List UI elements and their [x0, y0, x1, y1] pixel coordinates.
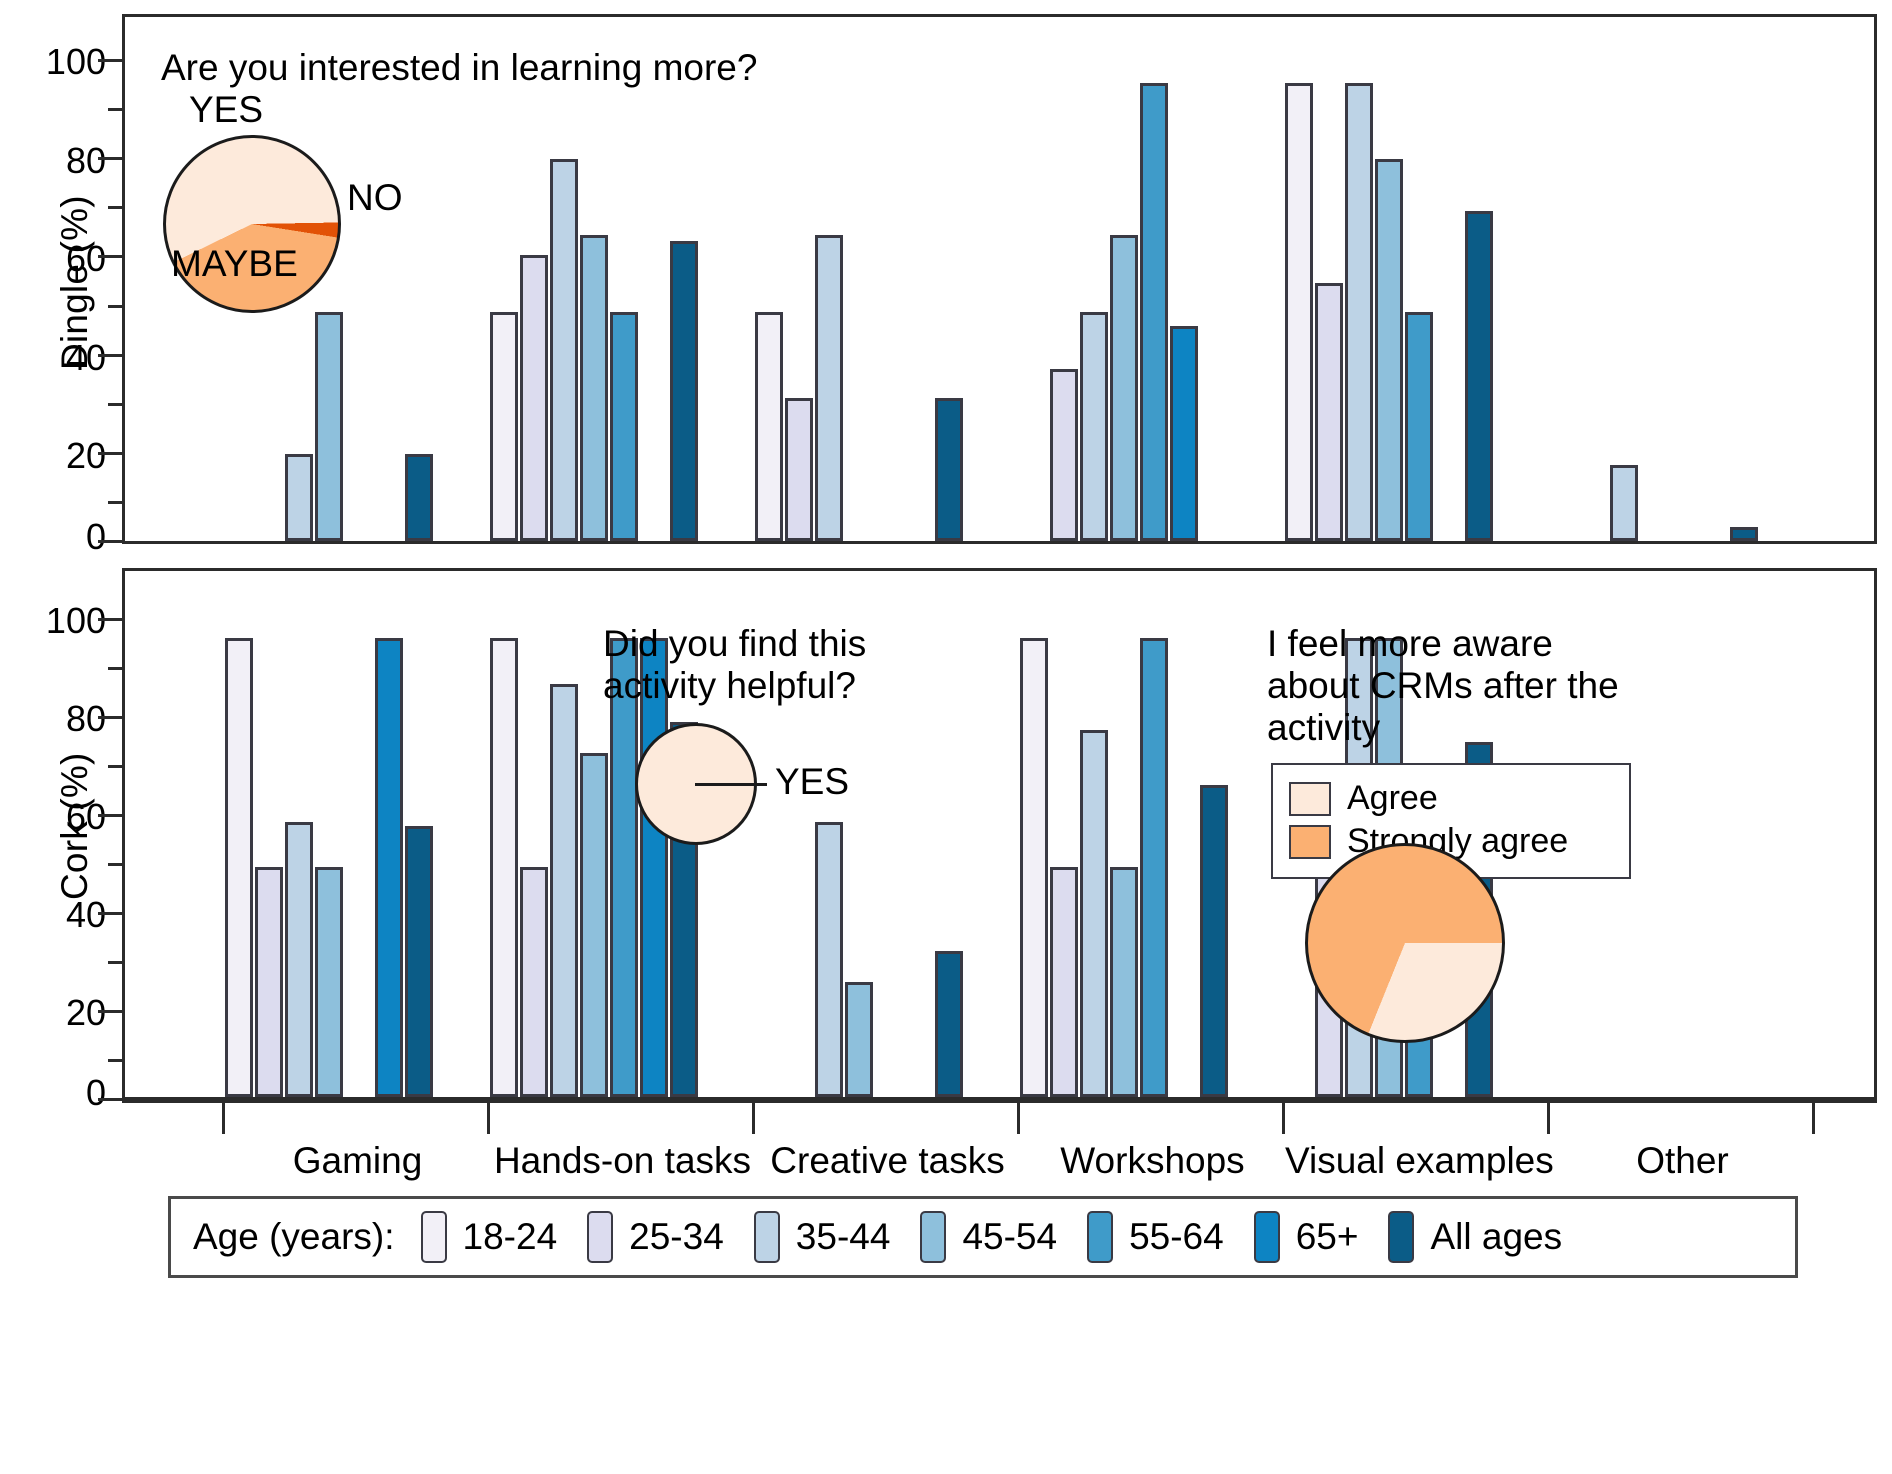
- xtick-0: [222, 1100, 225, 1134]
- category-label-creative-tasks: Creative tasks: [755, 1140, 1020, 1182]
- legend-item-45-54[interactable]: 45-54: [920, 1211, 1057, 1263]
- legend-swatch-icon: [587, 1211, 613, 1263]
- xtick-5: [1547, 1100, 1550, 1134]
- legend-swatch-icon: [920, 1211, 946, 1263]
- figure-root: Dingle (%) 100 80 60 40 20 0 Are you int…: [0, 0, 1892, 1474]
- legend-item-35-44[interactable]: 35-44: [754, 1211, 891, 1263]
- xtick-6: [1812, 1100, 1815, 1134]
- xtick-1: [487, 1100, 490, 1134]
- category-label-other: Other: [1550, 1140, 1815, 1182]
- category-label-hands-on-tasks: Hands-on tasks: [490, 1140, 755, 1182]
- legend-item-all-ages[interactable]: All ages: [1388, 1211, 1562, 1263]
- legend-items: 18-2425-3435-4445-5455-6465+All ages: [421, 1211, 1593, 1263]
- legend-item-label: All ages: [1430, 1216, 1562, 1258]
- category-label-visual-examples: Visual examples: [1285, 1140, 1550, 1182]
- xtick-4: [1282, 1100, 1285, 1134]
- legend-item-label: 55-64: [1129, 1216, 1224, 1258]
- legend-item-25-34[interactable]: 25-34: [587, 1211, 724, 1263]
- legend-item-65-[interactable]: 65+: [1254, 1211, 1359, 1263]
- legend-item-label: 45-54: [962, 1216, 1057, 1258]
- legend-item-18-24[interactable]: 18-24: [421, 1211, 558, 1263]
- xtick-3: [1017, 1100, 1020, 1134]
- legend-item-label: 18-24: [463, 1216, 558, 1258]
- age-legend: Age (years): 18-2425-3435-4445-5455-6465…: [168, 1196, 1798, 1278]
- category-label-gaming: Gaming: [225, 1140, 490, 1182]
- legend-swatch-icon: [1388, 1211, 1414, 1263]
- legend-item-label: 65+: [1296, 1216, 1359, 1258]
- legend-swatch-icon: [754, 1211, 780, 1263]
- legend-swatch-icon: [1254, 1211, 1280, 1263]
- xtick-2: [752, 1100, 755, 1134]
- legend-swatch-icon: [1087, 1211, 1113, 1263]
- category-label-workshops: Workshops: [1020, 1140, 1285, 1182]
- legend-item-label: 25-34: [629, 1216, 724, 1258]
- legend-swatch-icon: [421, 1211, 447, 1263]
- legend-title: Age (years):: [193, 1216, 395, 1258]
- legend-item-55-64[interactable]: 55-64: [1087, 1211, 1224, 1263]
- legend-item-label: 35-44: [796, 1216, 891, 1258]
